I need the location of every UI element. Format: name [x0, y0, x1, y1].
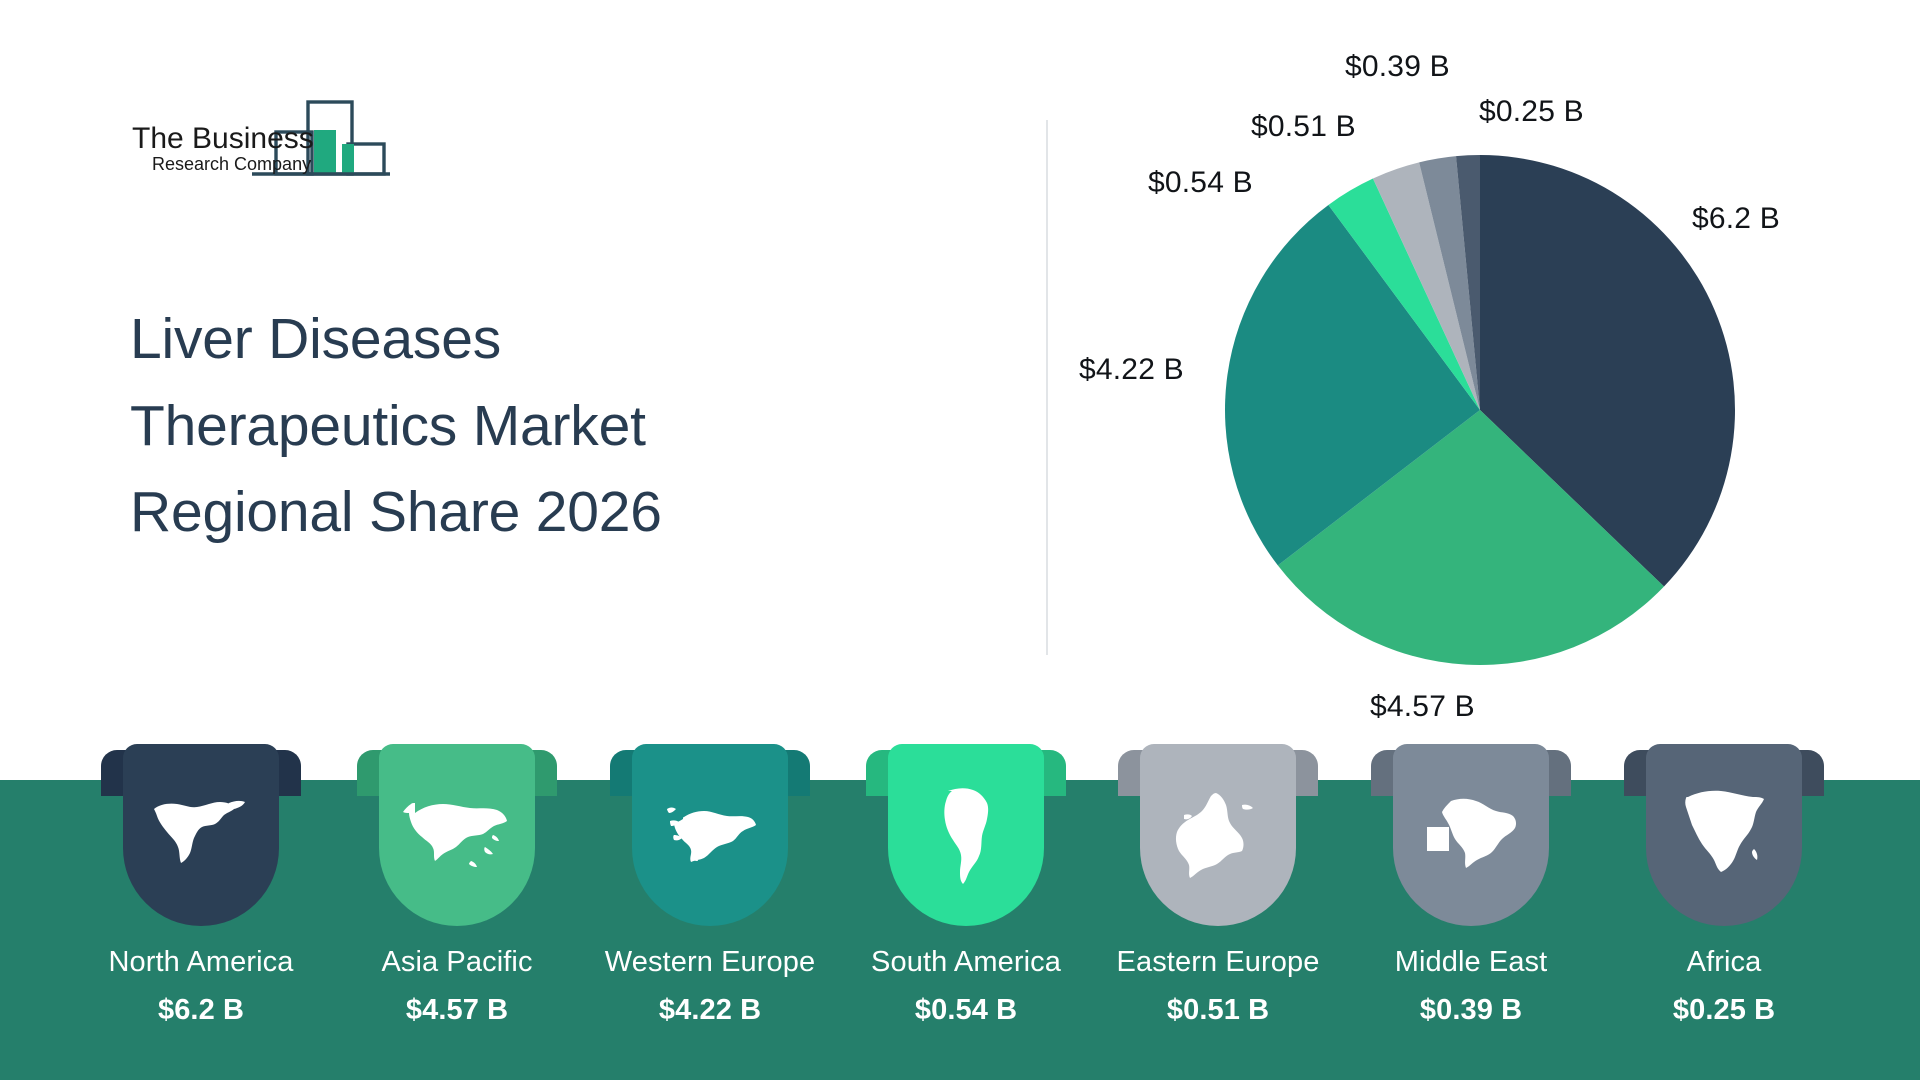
- africa-map-icon: [1670, 783, 1778, 887]
- badge-pin: [1646, 744, 1802, 926]
- region-card-eastern-europe[interactable]: Eastern Europe $0.51 B: [1110, 744, 1326, 1080]
- eastern-europe-map-icon: [1162, 787, 1274, 883]
- region-card-asia-pacific[interactable]: Asia Pacific $4.57 B: [349, 744, 565, 1080]
- region-name: South America: [871, 948, 1061, 977]
- pie-label-asia-pacific: $4.57 B: [1370, 690, 1475, 724]
- region-value: $6.2 B: [158, 996, 244, 1025]
- region-badge: [349, 744, 565, 932]
- middle-east-map-icon: [1415, 787, 1527, 883]
- infographic-canvas: The Business Research Company Liver Dise…: [0, 0, 1920, 1080]
- region-badge: [1110, 744, 1326, 932]
- page-title-line-2: Therapeutics Market: [130, 383, 890, 470]
- pie-label-africa: $0.25 B: [1479, 95, 1584, 129]
- region-name: Africa: [1687, 948, 1762, 977]
- badge-pin: [123, 744, 279, 926]
- pie-label-middle-east: $0.39 B: [1345, 50, 1450, 84]
- pie-slice-group: [1225, 155, 1735, 665]
- region-value: $0.25 B: [1673, 996, 1775, 1025]
- badge-pin: [632, 744, 788, 926]
- logo-wordmark-secondary: Research Company: [152, 154, 311, 174]
- page-title-line-1: Liver Diseases: [130, 296, 890, 383]
- vertical-divider: [1046, 120, 1048, 655]
- badge-pin: [888, 744, 1044, 926]
- badge-pin: [1140, 744, 1296, 926]
- south-america-map-icon: [914, 783, 1018, 887]
- page-title-line-3: Regional Share 2026: [130, 469, 890, 556]
- region-card-north-america[interactable]: North America $6.2 B: [93, 744, 309, 1080]
- pie-label-north-america: $6.2 B: [1692, 202, 1780, 236]
- company-logo: The Business Research Company: [128, 100, 428, 190]
- region-name: Middle East: [1395, 948, 1548, 977]
- region-name: Western Europe: [605, 948, 815, 977]
- region-value: $0.51 B: [1167, 996, 1269, 1025]
- region-value: $4.57 B: [406, 996, 508, 1025]
- region-name: North America: [108, 948, 293, 977]
- region-card-africa[interactable]: Africa $0.25 B: [1616, 744, 1832, 1080]
- region-value: $0.54 B: [915, 996, 1017, 1025]
- pie-label-western-europe: $4.22 B: [1079, 353, 1184, 387]
- region-badge: [1616, 744, 1832, 932]
- region-name: Eastern Europe: [1117, 948, 1320, 977]
- region-value: $4.22 B: [659, 996, 761, 1025]
- region-badge: [93, 744, 309, 932]
- asia-pacific-map-icon: [401, 787, 513, 883]
- logo-wordmark-primary: The Business: [132, 122, 314, 155]
- north-america-map-icon: [145, 787, 257, 883]
- page-title: Liver Diseases Therapeutics Market Regio…: [130, 296, 890, 556]
- western-europe-map-icon: [654, 787, 766, 883]
- region-name: Asia Pacific: [381, 948, 532, 977]
- region-card-middle-east[interactable]: Middle East $0.39 B: [1363, 744, 1579, 1080]
- badge-pin: [1393, 744, 1549, 926]
- pie-label-eastern-europe: $0.51 B: [1251, 110, 1356, 144]
- region-card-western-europe[interactable]: Western Europe $4.22 B: [602, 744, 818, 1080]
- region-badge: [1363, 744, 1579, 932]
- region-value: $0.39 B: [1420, 996, 1522, 1025]
- region-badge: [602, 744, 818, 932]
- region-card-row: North America $6.2 B Asia Pacific $4.57 …: [0, 744, 1920, 1080]
- region-card-south-america[interactable]: South America $0.54 B: [858, 744, 1074, 1080]
- badge-pin: [379, 744, 535, 926]
- region-badge: [858, 744, 1074, 932]
- pie-label-south-america: $0.54 B: [1148, 166, 1253, 200]
